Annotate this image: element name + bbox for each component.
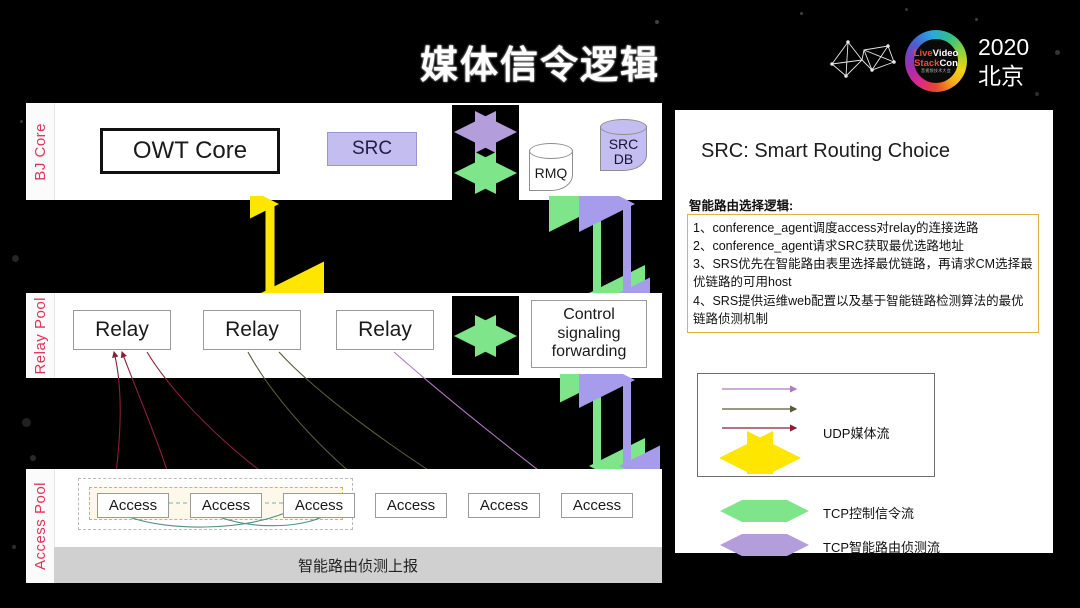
access-box-2[interactable]: Access: [190, 493, 262, 518]
tier-label-bj-core: BJ Core: [26, 103, 55, 200]
udp-legend-arrows: [720, 382, 820, 474]
src-rmq-bidirectional-arrows: [452, 105, 519, 200]
background-dot: [12, 545, 16, 549]
src-box[interactable]: SRC: [327, 132, 417, 166]
background-dot: [1035, 92, 1039, 96]
logo-line-3: 音视频技术大会: [914, 69, 959, 73]
access-box-6[interactable]: Access: [561, 493, 633, 518]
slide-canvas: 媒体信令逻辑 LiveVideo StackCon 音视频技术大会 2020: [0, 0, 1080, 608]
livevideostackcon-logo: LiveVideo StackCon 音视频技术大会: [905, 30, 967, 92]
legend-row-udp: UDP媒体流: [823, 423, 889, 442]
legend-label-tcp-control: TCP控制信令流: [823, 503, 914, 522]
background-dot: [905, 8, 908, 11]
legend-label-udp: UDP媒体流: [823, 423, 889, 442]
src-info-panel: SRC: Smart Routing Choice 智能路由选择逻辑: 1、co…: [675, 110, 1053, 553]
rmq-cylinder: RMQ: [529, 143, 573, 191]
core-to-relay-arrows: [250, 196, 650, 300]
info-item-4: 4、SRS提供运维web配置以及基于智能链路检测算法的最优链路侦测机制: [693, 292, 1033, 328]
smart-routing-report-bar: 智能路由侦测上报: [54, 547, 662, 583]
info-panel-subtitle: 智能路由选择逻辑:: [689, 195, 793, 214]
tier-label-access-pool: Access Pool: [26, 469, 55, 583]
background-dot: [975, 18, 978, 21]
access-box-1[interactable]: Access: [97, 493, 169, 518]
geometric-wireframe-logo: [828, 36, 900, 84]
event-year: 2020: [978, 33, 1029, 62]
access-box-5[interactable]: Access: [468, 493, 540, 518]
legend-arrow-tcp-probe: [720, 534, 810, 556]
background-dot: [655, 20, 659, 24]
src-db-cylinder: SRC DB: [600, 119, 647, 171]
background-dot: [800, 12, 803, 15]
info-item-3: 3、SRS优先在智能路由表里选择最优链路，再请求CM选择最优链路的可用host: [693, 255, 1033, 291]
info-panel-list: 1、conference_agent调度access对relay的连接选路 2、…: [687, 214, 1039, 333]
access-box-4[interactable]: Access: [375, 493, 447, 518]
owt-core-box[interactable]: OWT Core: [100, 128, 280, 174]
event-year-city: 2020 北京: [978, 33, 1029, 91]
src-db-label-2: DB: [614, 152, 633, 167]
background-dot: [12, 255, 19, 262]
rmq-label: RMQ: [535, 166, 568, 181]
src-db-label-1: SRC: [609, 137, 639, 152]
info-item-1: 1、conference_agent调度access对relay的连接选路: [693, 219, 1033, 237]
info-item-2: 2、conference_agent请求SRC获取最优选路地址: [693, 237, 1033, 255]
legend-row-tcp-control: TCP控制信令流: [823, 503, 914, 522]
info-panel-title: SRC: Smart Routing Choice: [701, 140, 950, 163]
access-box-3[interactable]: Access: [283, 493, 355, 518]
legend-arrow-tcp-control: [720, 500, 810, 522]
legend-label-tcp-probe: TCP智能路由侦测流: [823, 537, 940, 556]
legend-row-tcp-probe: TCP智能路由侦测流: [823, 537, 940, 556]
event-city: 北京: [978, 62, 1029, 91]
background-dot: [20, 120, 23, 123]
